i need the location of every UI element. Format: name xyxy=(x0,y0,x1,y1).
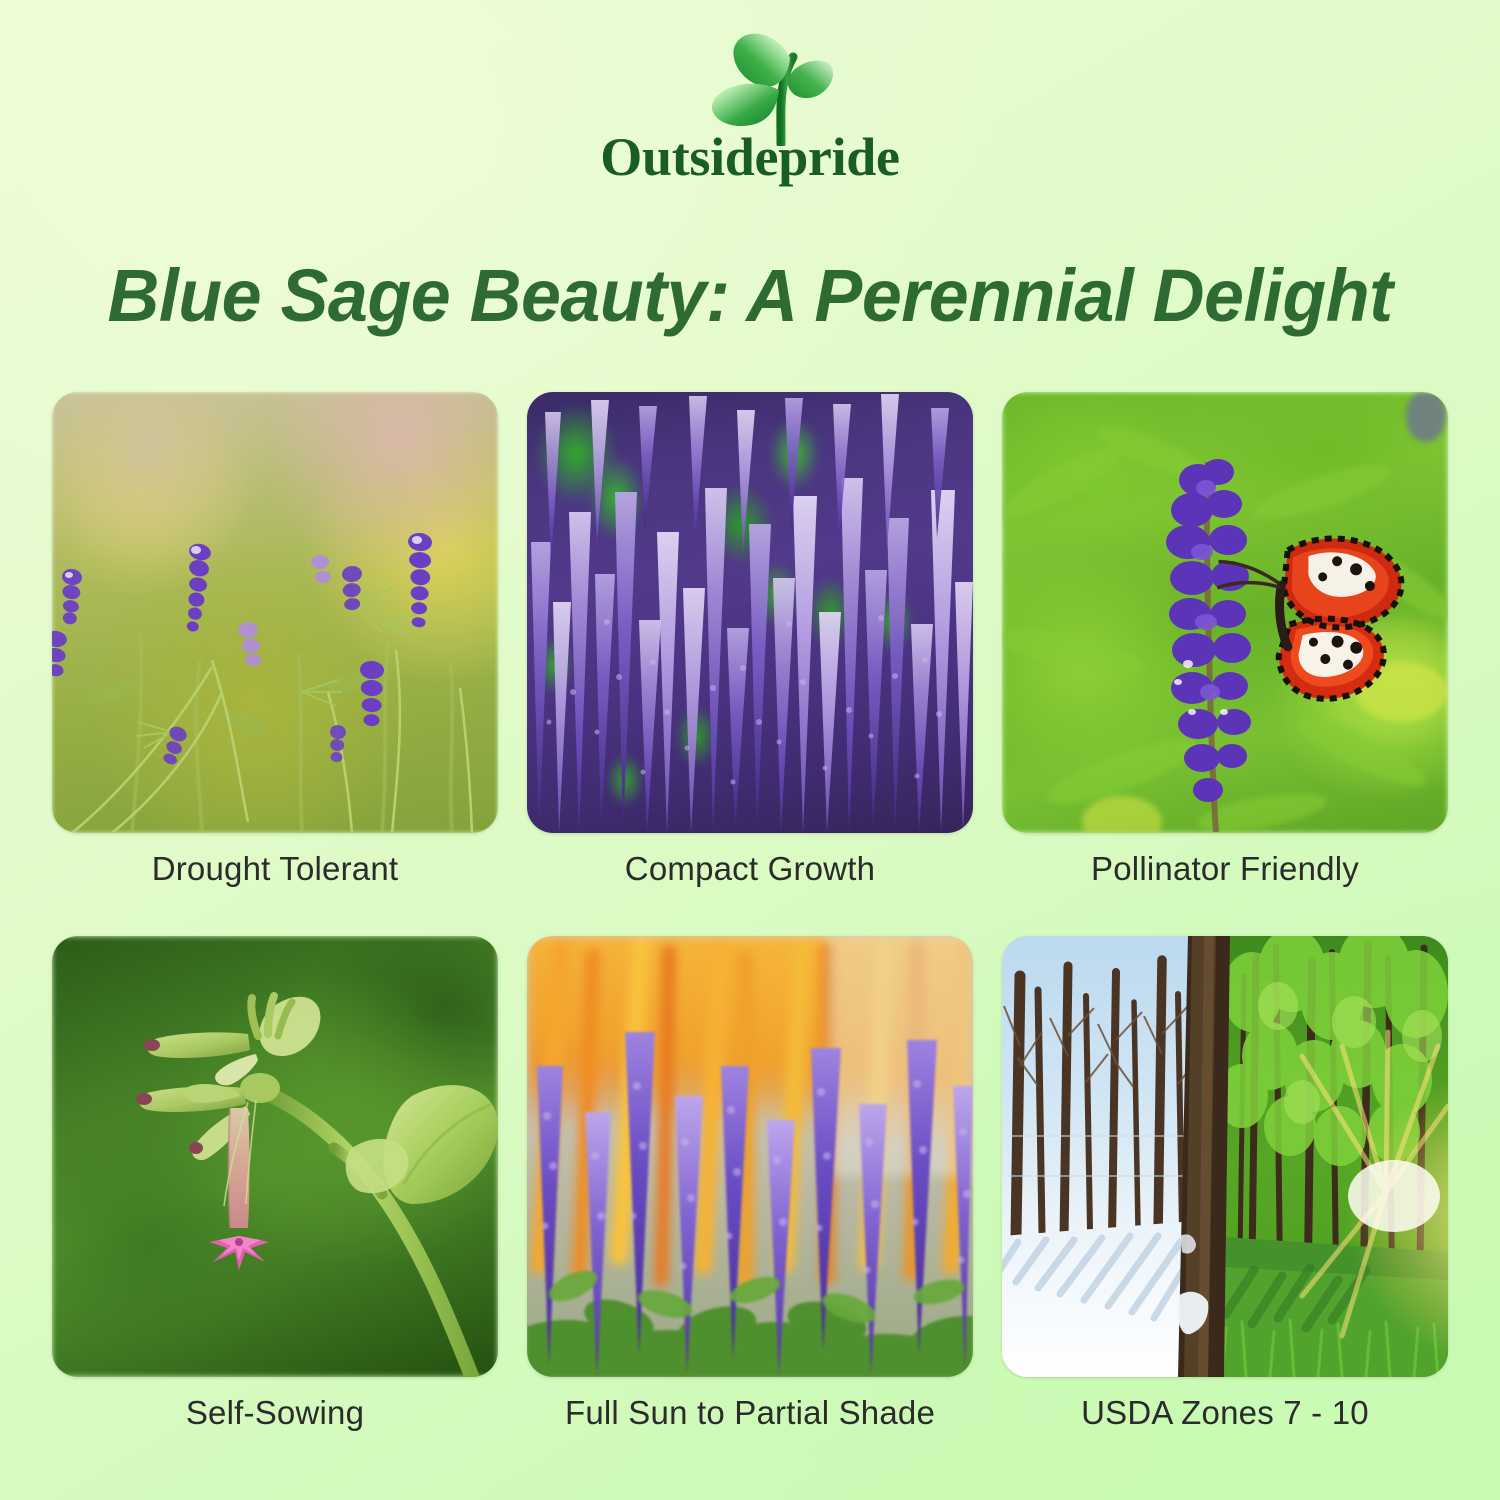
feature-card-compact-growth[interactable]: Compact Growth xyxy=(527,392,973,888)
feature-card-pollinator-friendly[interactable]: Pollinator Friendly xyxy=(1002,392,1448,888)
feature-image-usda-zones xyxy=(1002,936,1448,1377)
feature-image-full-sun-partial-shade xyxy=(527,936,973,1377)
feature-caption: Pollinator Friendly xyxy=(1091,850,1359,888)
feature-caption: Compact Growth xyxy=(625,850,875,888)
feature-caption: USDA Zones 7 - 10 xyxy=(1081,1394,1369,1432)
feature-image-pollinator-friendly xyxy=(1002,392,1448,833)
feature-caption: Drought Tolerant xyxy=(152,850,399,888)
feature-card-usda-zones[interactable]: USDA Zones 7 - 10 xyxy=(1002,936,1448,1432)
feature-card-full-sun-partial-shade[interactable]: Full Sun to Partial Shade xyxy=(527,936,973,1432)
brand-logo: Outsidepride xyxy=(0,28,1500,208)
feature-image-drought-tolerant xyxy=(52,392,498,833)
feature-grid: Drought Tolerant xyxy=(52,392,1448,1432)
feature-image-compact-growth xyxy=(527,392,973,833)
feature-caption: Full Sun to Partial Shade xyxy=(565,1394,935,1432)
feature-card-self-sowing[interactable]: Self-Sowing xyxy=(52,936,498,1432)
brand-wordmark: Outsidepride xyxy=(600,130,899,184)
feature-image-self-sowing xyxy=(52,936,498,1377)
page-title: Blue Sage Beauty: A Perennial Delight xyxy=(23,256,1478,336)
feature-card-drought-tolerant[interactable]: Drought Tolerant xyxy=(52,392,498,888)
feature-caption: Self-Sowing xyxy=(186,1394,364,1432)
product-infographic: Outsidepride Blue Sage Beauty: A Perenni… xyxy=(0,0,1500,1500)
